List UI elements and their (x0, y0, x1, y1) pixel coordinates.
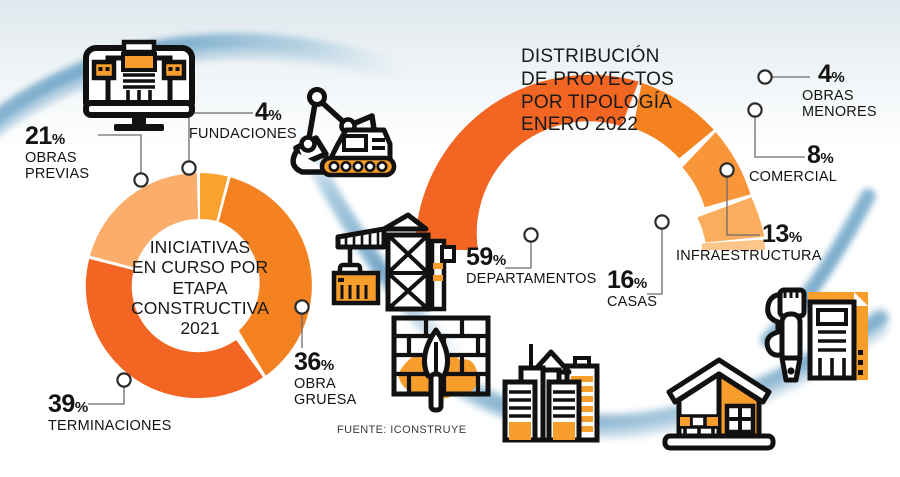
obra-gruesa-line-2: GRUESA (294, 392, 356, 408)
right-title-line-2: DE PROYECTOS (521, 69, 741, 92)
percent-sign: % (75, 399, 88, 416)
label-infraestructura: 13% INFRAESTRUCTURA (676, 222, 822, 264)
city-buildings-icon (505, 344, 597, 440)
label-departamentos: 59% DEPARTAMENTOS (466, 245, 596, 287)
obras-previas-value: 21 (25, 122, 52, 150)
obra-gruesa-name: OBRA GRUESA (294, 376, 356, 408)
infraestructura-percent: 13% (762, 222, 822, 247)
obras-previas-name: OBRAS PREVIAS (25, 150, 89, 182)
label-obras-previas: 21% OBRAS PREVIAS (25, 124, 89, 182)
obras-previas-line-1: OBRAS (25, 150, 89, 166)
obras-previas-line-2: PREVIAS (25, 166, 89, 182)
percent-sign: % (831, 69, 844, 86)
obras-menores-line-2: MENORES (802, 104, 877, 120)
infraestructura-line-1: INFRAESTRUCTURA (676, 248, 822, 264)
label-comercial: 8% COMERCIAL (795, 143, 837, 185)
casas-name: CASAS (607, 294, 657, 310)
departamentos-name: DEPARTAMENTOS (466, 271, 596, 287)
percent-sign: % (820, 150, 833, 167)
percent-sign: % (52, 131, 65, 148)
source-note: FUENTE: ICONSTRUYE (337, 424, 466, 436)
pipe-wrench-building-icon (767, 290, 868, 380)
comercial-value: 8 (807, 141, 820, 169)
terminaciones-percent: 39% (48, 392, 171, 417)
left-title-line-4: CONSTRUCTIVA (112, 298, 288, 318)
percent-sign: % (321, 357, 334, 374)
left-title-line-5: 2021 (112, 318, 288, 338)
left-chart-center-title: INICIATIVAS EN CURSO POR ETAPA CONSTRUCT… (112, 237, 288, 338)
terminaciones-name: TERMINACIONES (48, 418, 171, 434)
left-title-line-3: ETAPA (112, 278, 288, 298)
excavator-icon (293, 90, 394, 176)
obras-menores-percent: 4% (818, 62, 877, 87)
label-obra-gruesa: 36% OBRA GRUESA (294, 350, 356, 408)
infraestructura-name: INFRAESTRUCTURA (676, 248, 822, 264)
trowel-brickwall-icon (394, 318, 488, 410)
obras-previas-percent: 21% (25, 124, 89, 149)
percent-sign: % (634, 275, 647, 292)
departamentos-value: 59 (466, 243, 493, 271)
comercial-line-1: COMERCIAL (749, 169, 837, 185)
obras-menores-line-1: OBRAS (802, 88, 877, 104)
house-icon (665, 360, 773, 448)
left-title-line-2: EN CURSO POR (112, 257, 288, 277)
fundaciones-value: 4 (255, 98, 268, 126)
infraestructura-value: 13 (762, 220, 789, 248)
left-title-line-1: INICIATIVAS (112, 237, 288, 257)
casas-line-1: CASAS (607, 294, 657, 310)
percent-sign: % (789, 229, 802, 246)
obra-gruesa-percent: 36% (294, 350, 356, 375)
tower-crane-icon (334, 215, 454, 309)
casas-value: 16 (607, 266, 634, 294)
obras-menores-name: OBRAS MENORES (802, 88, 877, 120)
right-title-line-4: ENERO 2022 (521, 114, 741, 137)
obra-gruesa-value: 36 (294, 348, 321, 376)
percent-sign: % (493, 252, 506, 269)
right-title-line-1: DISTRIBUCIÓN (521, 46, 741, 69)
obras-menores-value: 4 (818, 60, 831, 88)
label-obras-menores: 4% OBRAS MENORES (818, 62, 877, 120)
terminaciones-value: 39 (48, 390, 75, 418)
comercial-percent: 8% (807, 143, 837, 168)
label-fundaciones: 4% FUNDACIONES (189, 100, 297, 142)
label-terminaciones: 39% TERMINACIONES (48, 392, 171, 434)
casas-percent: 16% (607, 268, 657, 293)
fundaciones-line-1: FUNDACIONES (189, 126, 297, 142)
departamentos-percent: 59% (466, 245, 596, 270)
fundaciones-name: FUNDACIONES (189, 126, 297, 142)
obra-gruesa-line-1: OBRA (294, 376, 356, 392)
terminaciones-line-1: TERMINACIONES (48, 418, 171, 434)
label-casas: 16% CASAS (607, 268, 657, 310)
right-chart-title: DISTRIBUCIÓN DE PROYECTOS POR TIPOLOGÍA … (521, 46, 741, 137)
fundaciones-percent: 4% (255, 100, 297, 125)
infographic-canvas: INICIATIVAS EN CURSO POR ETAPA CONSTRUCT… (0, 0, 900, 477)
departamentos-line-1: DEPARTAMENTOS (466, 271, 596, 287)
right-title-line-3: POR TIPOLOGÍA (521, 92, 741, 115)
percent-sign: % (268, 107, 281, 124)
monitor-building-icon (86, 42, 192, 131)
comercial-name: COMERCIAL (749, 169, 837, 185)
